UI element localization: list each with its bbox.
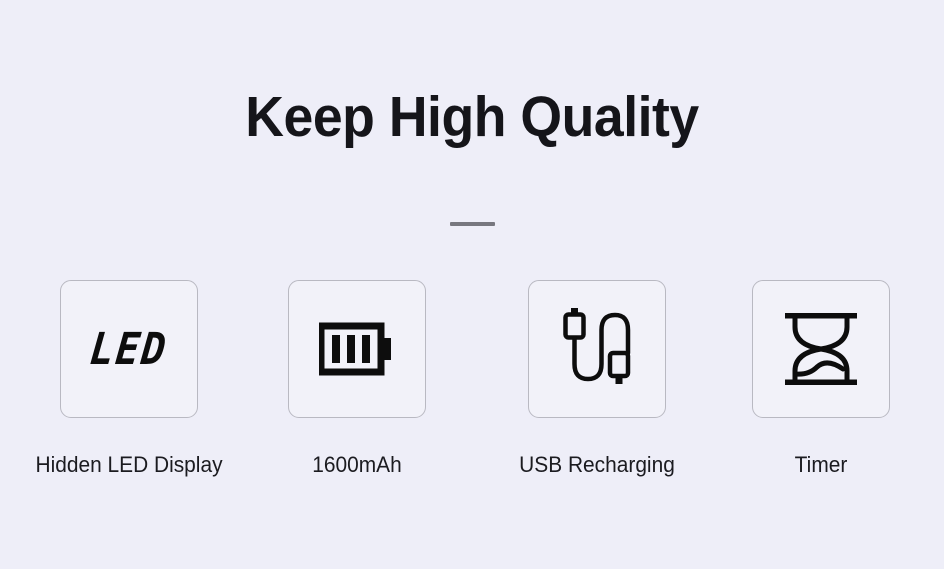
- feature-label: USB Recharging: [474, 452, 721, 478]
- feature-list: LED Hidden LED Display 1600mAh: [0, 280, 944, 510]
- promo-banner: Keep High Quality LED Hidden LED Display…: [0, 0, 944, 569]
- hourglass-icon: [781, 311, 861, 387]
- icon-box: [528, 280, 666, 418]
- led-segment-display-icon: LED: [88, 324, 170, 375]
- icon-box: [752, 280, 890, 418]
- battery-icon: [319, 320, 395, 378]
- feature-item-timer: Timer: [752, 280, 890, 418]
- feature-label: 1600mAh: [234, 452, 481, 478]
- feature-item-hidden-led-display: LED Hidden LED Display: [60, 280, 198, 418]
- usb-cable-icon: [561, 306, 633, 392]
- page-title: Keep High Quality: [28, 88, 915, 148]
- feature-item-battery-capacity: 1600mAh: [288, 280, 426, 418]
- feature-label: Timer: [698, 452, 944, 478]
- feature-item-usb-recharging: USB Recharging: [528, 280, 666, 418]
- title-divider: [450, 222, 495, 226]
- icon-box: [288, 280, 426, 418]
- feature-label: Hidden LED Display: [6, 452, 253, 478]
- icon-box: LED: [60, 280, 198, 418]
